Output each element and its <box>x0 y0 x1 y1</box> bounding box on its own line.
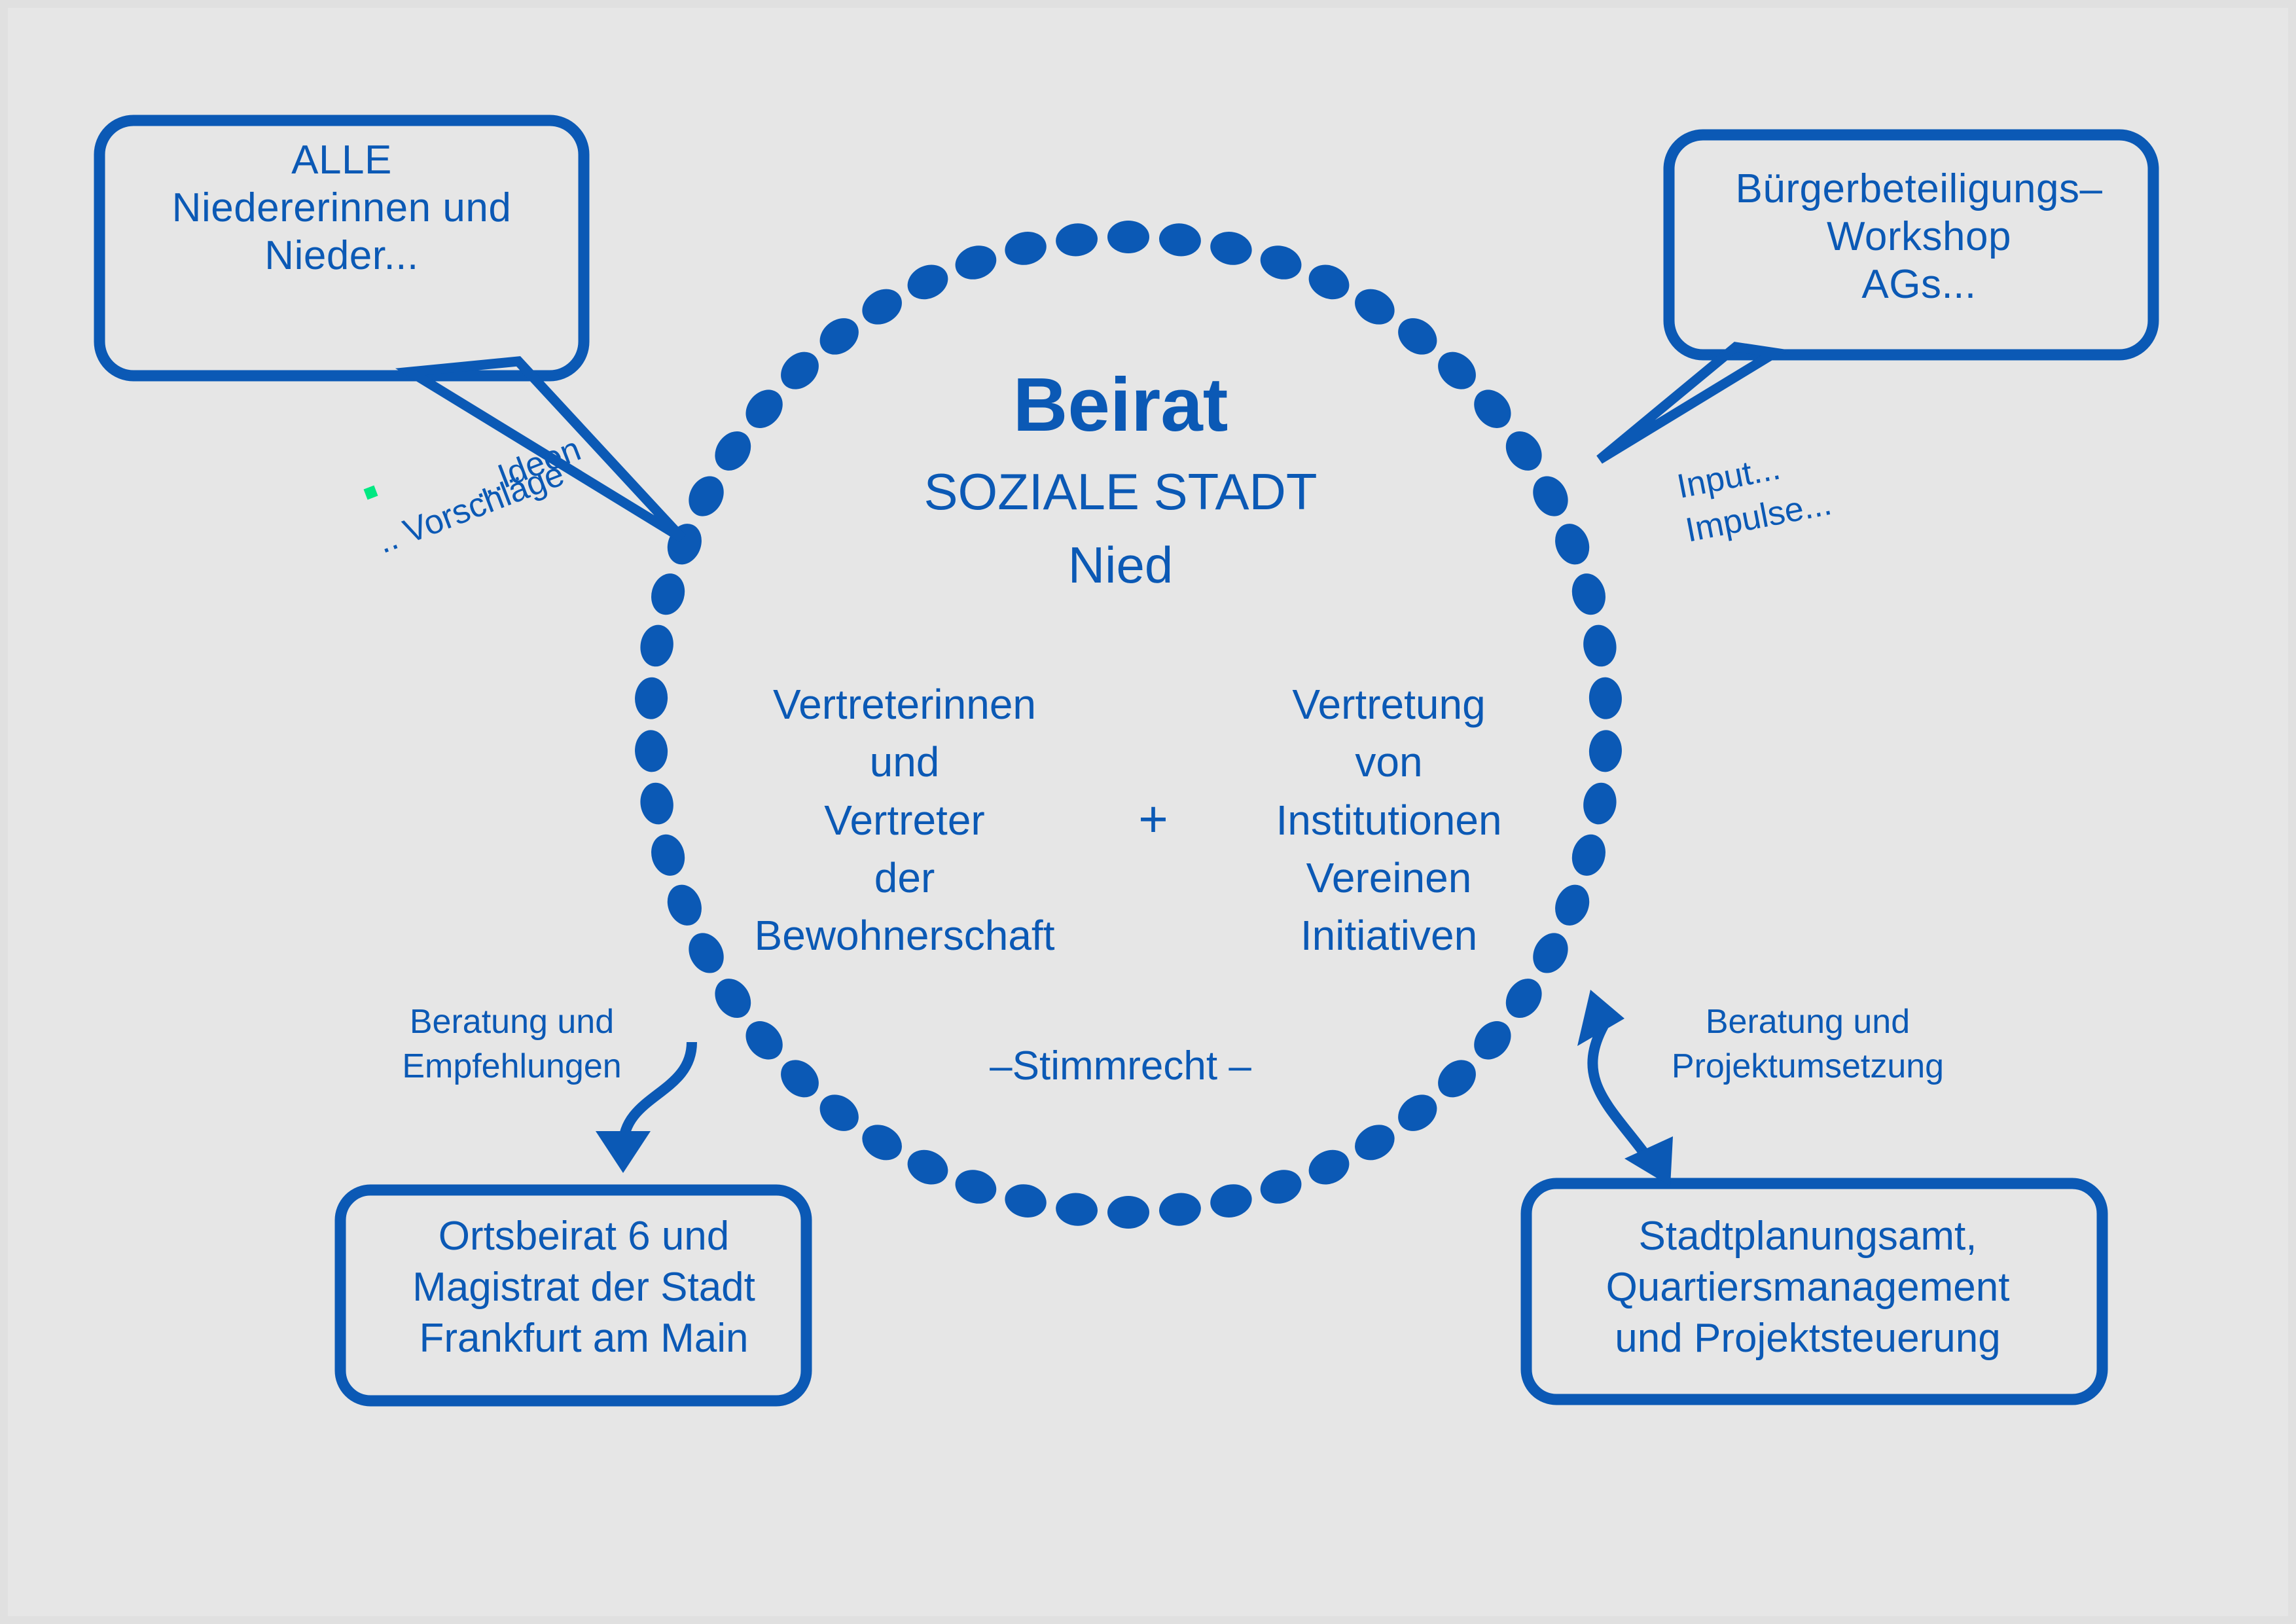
ring-dot <box>1054 1191 1100 1228</box>
ring-dot <box>1054 221 1100 259</box>
ring-dot <box>637 780 677 827</box>
speech-bubble-left-label: ALLE Niedererinnen und Nieder... <box>106 136 577 280</box>
ring-dot <box>634 729 668 773</box>
ring-dot <box>1107 221 1149 253</box>
ring-dot <box>1431 344 1484 397</box>
ring-dot <box>1549 518 1595 569</box>
bottom-right-box-label: Stadtplanungsamt, Quartiersmanagement un… <box>1539 1211 2076 1364</box>
ring-dot <box>647 569 689 619</box>
ring-dot <box>1001 228 1049 269</box>
ring-dot <box>1256 240 1306 285</box>
ring-dot <box>813 311 866 363</box>
ring-dot <box>1107 1196 1149 1229</box>
ring-dot <box>1303 259 1355 306</box>
ring-dot <box>738 382 791 435</box>
arrow-right-shaft <box>1592 1026 1649 1160</box>
ring-dot <box>1467 1014 1519 1067</box>
ring-dot <box>855 1117 908 1167</box>
ring-dot <box>1001 1180 1049 1221</box>
speech-bubble-right-label: Bürgerbeteiligungs– Workshop AGs... <box>1683 165 2155 308</box>
ring-dot <box>708 424 758 477</box>
arrow-left-head <box>596 1131 651 1173</box>
ring-dot <box>1499 972 1549 1025</box>
ring-dot <box>738 1014 791 1067</box>
ring-dot <box>1157 221 1202 259</box>
center-title: Beirat <box>839 367 1402 442</box>
ring-dot <box>1581 623 1620 669</box>
center-column-right: Vertretung von Institutionen Vereinen In… <box>1193 676 1585 965</box>
ring-dot <box>951 240 1001 285</box>
ring-dot <box>1207 1180 1255 1221</box>
center-footnote-stimmrecht: –Stimmrecht – <box>918 1042 1323 1090</box>
ring-dot <box>1391 311 1444 363</box>
center-subtitle-line1: SOZIALE STADT <box>839 466 1402 517</box>
ring-dot <box>1348 1117 1401 1167</box>
ring-dot <box>682 470 730 522</box>
ring-dot <box>1207 228 1255 269</box>
ring-dot <box>1431 1053 1484 1105</box>
ring-dot <box>902 1144 954 1191</box>
ring-dot <box>774 1053 827 1105</box>
ring-dot <box>1391 1087 1444 1139</box>
ring-dot <box>855 282 908 332</box>
ring-dot <box>708 972 758 1025</box>
ring-dot <box>1348 282 1401 332</box>
ring-dot <box>813 1087 866 1139</box>
ring-dot <box>1467 382 1519 435</box>
ring-dot <box>1303 1144 1355 1191</box>
diagram-canvas: ALLE Niedererinnen und Nieder... Bürgerb… <box>0 0 2296 1624</box>
annotation-beratung-projektumsetzung: Beratung und Projektumsetzung <box>1651 1000 1965 1089</box>
center-column-left: Vertreterinnen und Vertreter der Bewohne… <box>689 676 1121 965</box>
ring-dot <box>1588 729 1623 773</box>
ring-dot <box>1568 569 1610 619</box>
bottom-left-box-label: Ortsbeirat 6 und Magistrat der Stadt Fra… <box>348 1211 819 1364</box>
ring-dot <box>634 676 668 720</box>
ring-dot <box>951 1164 1001 1209</box>
ring-dot <box>647 831 689 880</box>
center-subtitle-line2: Nied <box>839 539 1402 590</box>
speech-bubble-right-tail <box>1600 347 1775 460</box>
ring-dot <box>902 259 954 306</box>
ring-dot <box>1256 1164 1306 1209</box>
annotation-beratung-empfehlungen: Beratung und Empfehlungen <box>374 1000 649 1089</box>
ring-dot <box>1581 780 1620 827</box>
ring-dot <box>1499 424 1549 477</box>
ring-dot <box>1157 1191 1202 1228</box>
ring-dot <box>1588 676 1623 720</box>
ring-dot <box>1526 470 1575 522</box>
ring-dot <box>774 344 827 397</box>
ring-dot <box>637 623 677 669</box>
